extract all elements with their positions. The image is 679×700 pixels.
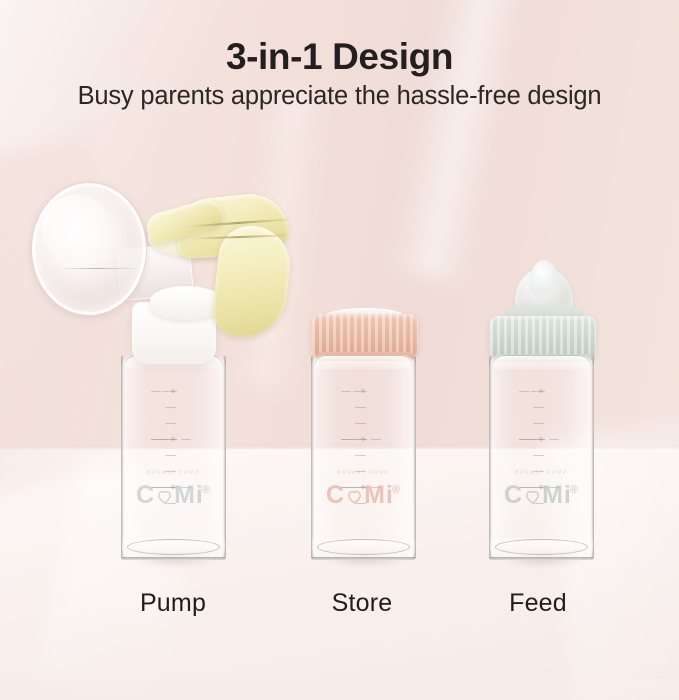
collar-ring <box>490 316 596 358</box>
measurement-graduations <box>121 355 226 560</box>
heart-icon <box>524 488 541 505</box>
bottle-store: BREAST PUMP CMi® <box>311 355 416 560</box>
measurement-graduations <box>311 355 416 560</box>
heart-icon <box>346 488 363 505</box>
pump-valve-collar <box>150 286 222 320</box>
storage-cap <box>312 314 418 356</box>
logo-letters-pre: C <box>504 481 523 509</box>
breast-shield-funnel <box>31 182 147 316</box>
logo-registered-mark: ® <box>570 484 579 496</box>
logo-letters-post: Mi <box>174 481 204 509</box>
product-pump: BREAST PUMP CMi® <box>0 0 300 600</box>
caption-pump: Pump <box>73 589 273 618</box>
logo-microtext: BREAST PUMP <box>311 470 416 476</box>
funnel-hairline <box>58 268 136 269</box>
nipple-tip <box>529 260 559 298</box>
logo-registered-mark: ® <box>202 484 211 496</box>
measurement-graduations <box>489 355 594 560</box>
logo-letters-post: Mi <box>364 481 394 509</box>
caption-feed: Feed <box>438 589 638 618</box>
product-infographic: 3-in-1 Design Busy parents appreciate th… <box>0 0 679 679</box>
brand-logo: BREAST PUMP CMi® <box>311 481 416 510</box>
bottle-base <box>490 538 593 560</box>
product-store: BREAST PUMP CMi® <box>280 0 480 600</box>
logo-letters-pre: C <box>136 481 155 509</box>
bottle-feed: BREAST PUMP CMi® <box>489 355 594 560</box>
product-feed: BREAST PUMP CMi® <box>460 0 660 600</box>
heart-icon <box>156 488 173 505</box>
logo-registered-mark: ® <box>392 484 401 496</box>
bottle-base <box>122 538 225 560</box>
logo-letters-post: Mi <box>542 481 572 509</box>
logo-microtext: BREAST PUMP <box>121 470 226 476</box>
logo-microtext: BREAST PUMP <box>489 470 594 476</box>
bottle-base <box>312 538 415 560</box>
brand-logo: BREAST PUMP CMi® <box>489 481 594 510</box>
caption-store: Store <box>262 589 462 618</box>
brand-logo: BREAST PUMP CMi® <box>121 481 226 510</box>
logo-letters-pre: C <box>326 481 345 509</box>
bottle-pump: BREAST PUMP CMi® <box>121 355 226 560</box>
